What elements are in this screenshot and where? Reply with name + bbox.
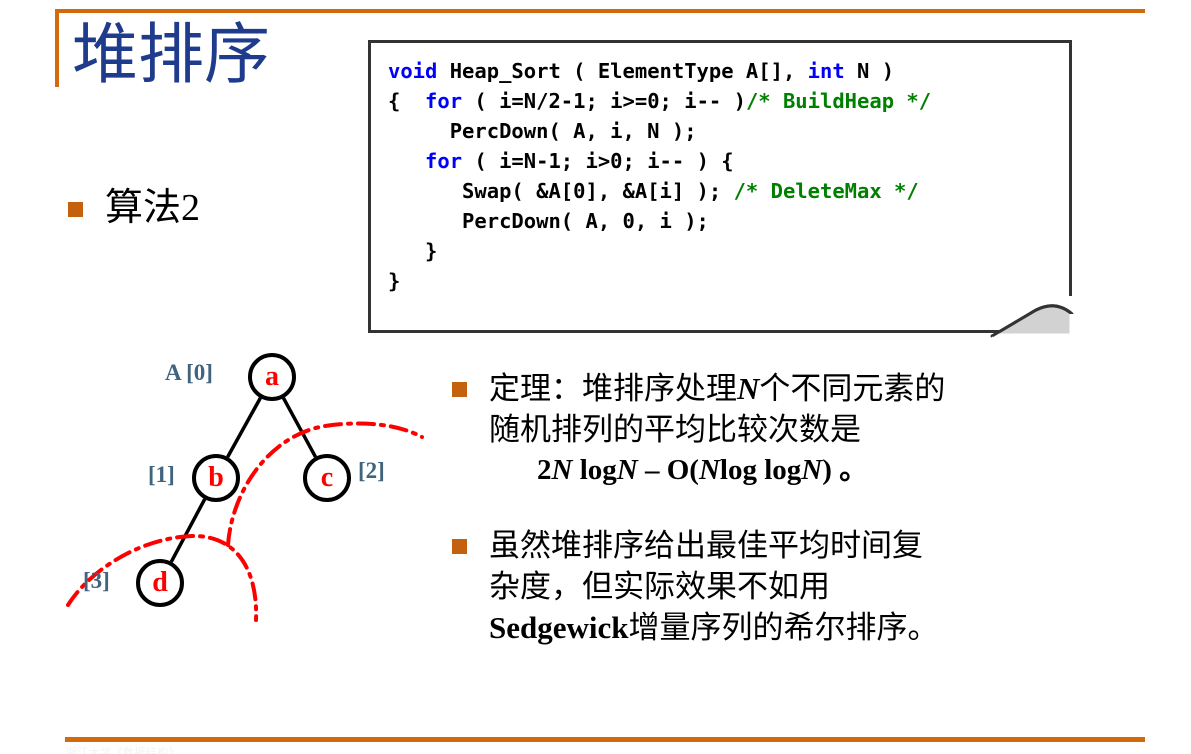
theorem-line-1: 定理：堆排序处理N个不同元素的 xyxy=(489,368,945,409)
algorithm-bullet-label: 算法2 xyxy=(105,186,200,230)
tree-node-b: b xyxy=(192,454,240,502)
square-bullet-icon xyxy=(452,539,467,554)
heap-tree-diagram: abcd A [0][1][2][3] xyxy=(60,340,440,640)
theorem-column: 定理：堆排序处理N个不同元素的 随机排列的平均比较次数是 2N logN – O… xyxy=(452,368,1092,678)
tree-index-label-c: [2] xyxy=(358,458,385,484)
code-line: } xyxy=(388,236,931,266)
note-text: 虽然堆排序给出最佳平均时间复 杂度，但实际效果不如用 Sedgewick增量序列… xyxy=(489,525,939,648)
slide-canvas: 浙江大学《数据结构》 堆排序 算法2 void Heap_Sort ( Elem… xyxy=(0,0,1191,754)
theorem-mid: 个不同元素的 xyxy=(759,371,945,406)
code-line: PercDown( A, i, N ); xyxy=(388,116,931,146)
top-accent-rule xyxy=(55,9,1145,13)
tree-edge xyxy=(228,398,261,457)
code-line: PercDown( A, 0, i ); xyxy=(388,206,931,236)
page-title: 堆排序 xyxy=(72,18,270,94)
tree-node-a: a xyxy=(248,353,296,401)
footer-note: 浙江大学《数据结构》 xyxy=(66,744,180,754)
theorem-line-2: 随机排列的平均比较次数是 xyxy=(489,409,945,450)
theorem-text: 定理：堆排序处理N个不同元素的 随机排列的平均比较次数是 2N logN – O… xyxy=(489,368,945,491)
square-bullet-icon xyxy=(452,382,467,397)
theorem-formula: 2N logN – O(Nlog logN) 。 xyxy=(537,450,945,491)
note-line-3-rest: 增量序列的希尔排序。 xyxy=(629,610,939,645)
code-listing: void Heap_Sort ( ElementType A[], int N … xyxy=(388,56,931,296)
tree-node-d: d xyxy=(136,559,184,607)
tree-level-arcs xyxy=(68,423,422,620)
note-bullet: 虽然堆排序给出最佳平均时间复 杂度，但实际效果不如用 Sedgewick增量序列… xyxy=(452,525,1092,648)
note-line-1: 虽然堆排序给出最佳平均时间复 xyxy=(489,525,939,566)
tree-edge xyxy=(171,499,204,562)
code-line: for ( i=N-1; i>0; i-- ) { xyxy=(388,146,931,176)
sedgewick-term: Sedgewick xyxy=(489,610,629,645)
code-line: void Heap_Sort ( ElementType A[], int N … xyxy=(388,56,931,86)
left-accent-rule xyxy=(55,9,59,87)
bottom-accent-rule xyxy=(65,737,1145,742)
tree-node-c: c xyxy=(303,454,351,502)
tree-index-label-d: [3] xyxy=(83,568,110,594)
theorem-var-n: N xyxy=(737,371,759,406)
note-line-2: 杂度，但实际效果不如用 xyxy=(489,566,939,607)
theorem-prefix: 定理：堆排序处理 xyxy=(489,371,737,406)
tree-edge xyxy=(283,398,315,457)
code-line: { for ( i=N/2-1; i>=0; i-- )/* BuildHeap… xyxy=(388,86,931,116)
theorem-bullet: 定理：堆排序处理N个不同元素的 随机排列的平均比较次数是 2N logN – O… xyxy=(452,368,1092,491)
page-curl-icon xyxy=(990,296,1076,338)
code-line: } xyxy=(388,266,931,296)
code-line: Swap( &A[0], &A[i] ); /* DeleteMax */ xyxy=(388,176,931,206)
square-bullet-icon xyxy=(68,202,83,217)
note-line-3: Sedgewick增量序列的希尔排序。 xyxy=(489,607,939,648)
tree-index-label-b: [1] xyxy=(148,462,175,488)
tree-index-label-a: A [0] xyxy=(165,360,213,386)
algorithm-bullet: 算法2 xyxy=(68,186,200,230)
